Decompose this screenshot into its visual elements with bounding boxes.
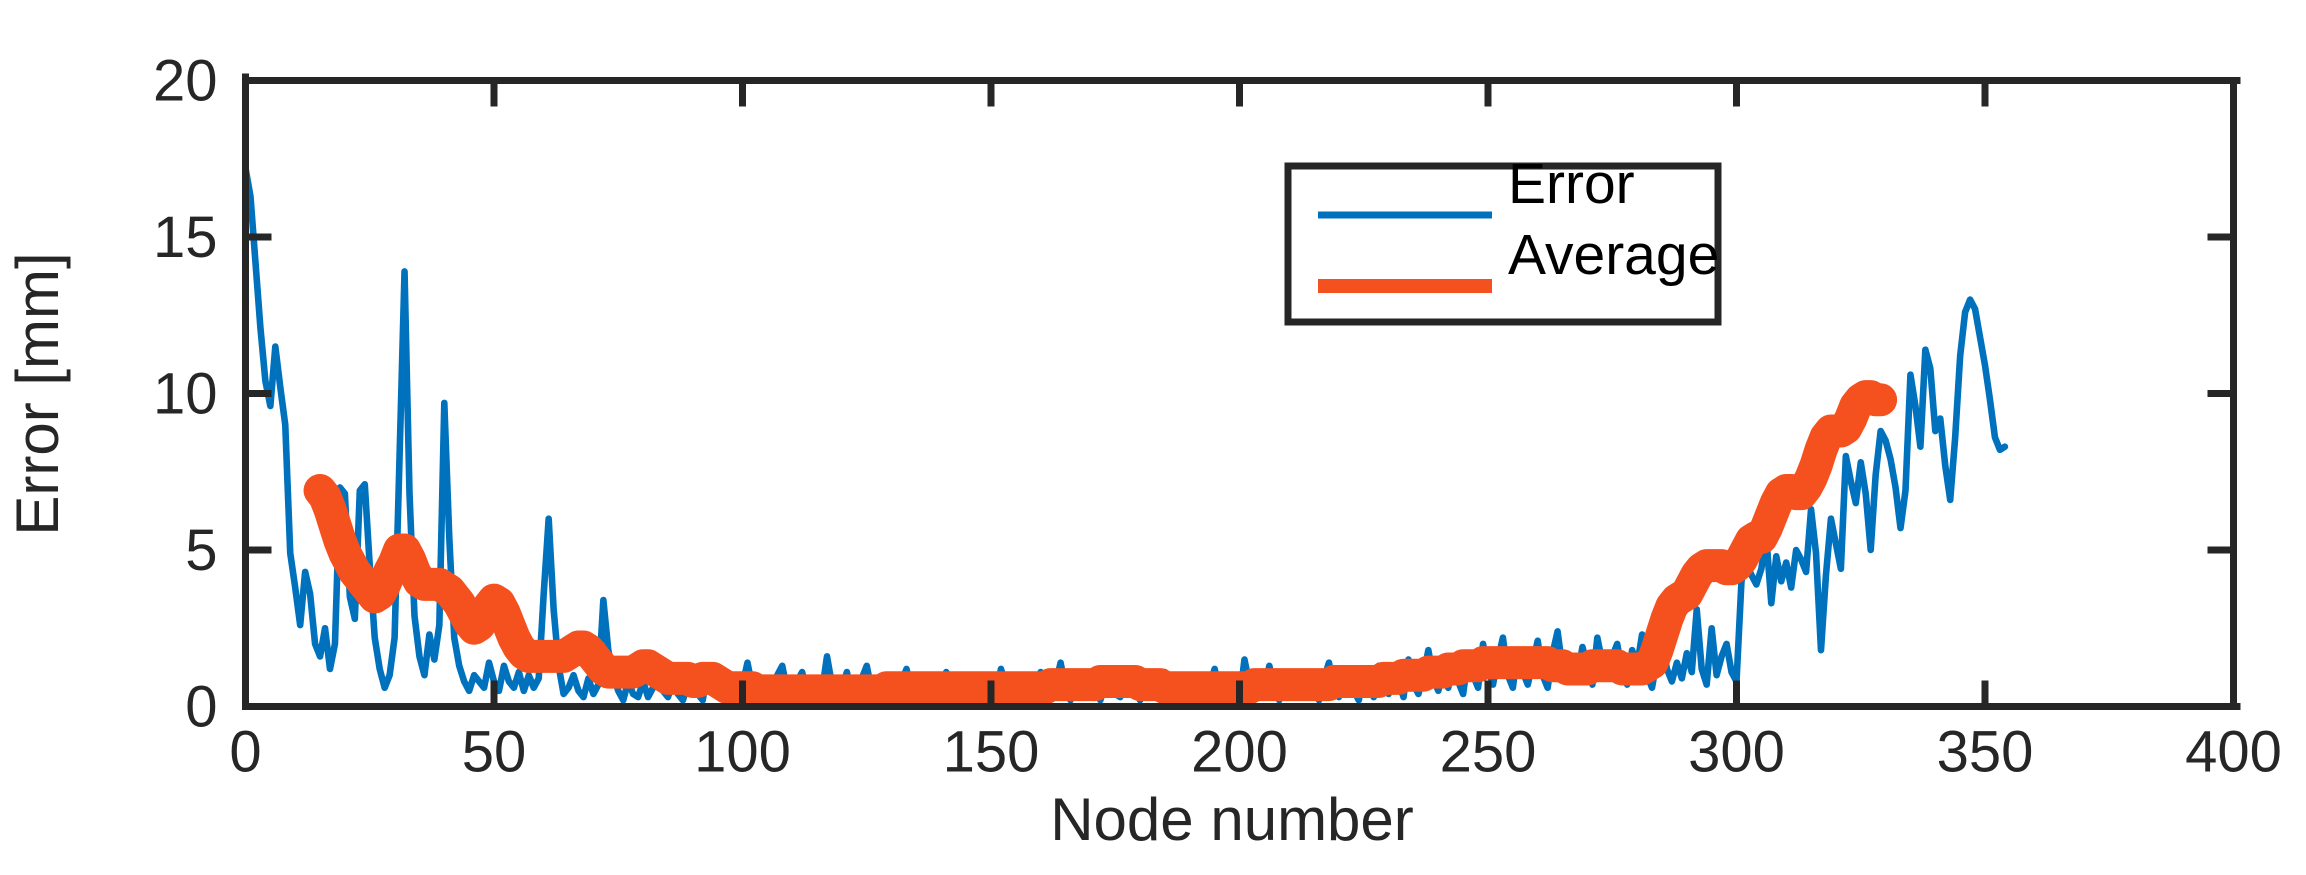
x-axis-title: Node number <box>1050 786 1414 853</box>
x-tick-label-200: 200 <box>1191 720 1288 785</box>
x-axis-tick-labels: 050100150200250300350400 <box>229 720 2282 785</box>
x-tick-label-50: 50 <box>462 720 527 785</box>
y-tick-label-10: 10 <box>153 362 218 427</box>
x-tick-label-0: 0 <box>229 720 261 785</box>
chart-legend: Error Average <box>1288 152 1719 322</box>
x-tick-label-100: 100 <box>694 720 791 785</box>
x-tick-label-400: 400 <box>2185 720 2282 785</box>
line-chart: 05101520 050100150200250300350400 Node n… <box>0 0 2306 875</box>
y-tick-label-0: 0 <box>185 675 217 740</box>
chart-figure: 05101520 050100150200250300350400 Node n… <box>0 0 2306 875</box>
x-tick-label-300: 300 <box>1688 720 1785 785</box>
y-tick-label-5: 5 <box>185 518 217 583</box>
legend-label-average: Average <box>1508 223 1719 287</box>
x-tick-label-250: 250 <box>1440 720 1537 785</box>
x-tick-label-150: 150 <box>943 720 1040 785</box>
y-axis-tick-labels: 05101520 <box>153 49 218 740</box>
x-tick-label-350: 350 <box>1937 720 2034 785</box>
y-tick-label-20: 20 <box>153 49 218 114</box>
y-tick-label-15: 15 <box>153 205 218 270</box>
y-axis-title: Error [mm] <box>4 252 71 535</box>
legend-label-error: Error <box>1508 152 1635 216</box>
